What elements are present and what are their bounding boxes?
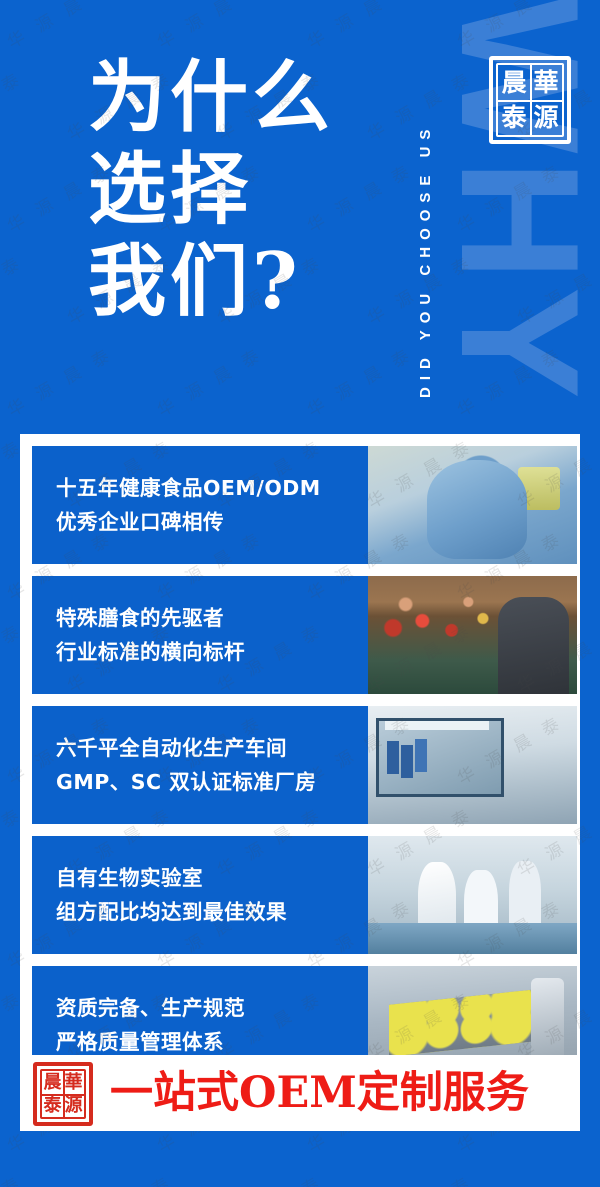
watermark-text: 华 源 晨 泰 <box>362 1168 478 1187</box>
watermark-text: 华 源 晨 泰 <box>152 340 268 421</box>
feature-text-block: 六千平全自动化生产车间 GMP、SC 双认证标准厂房 <box>32 706 368 824</box>
seal-char-1: 晨 <box>42 1071 63 1094</box>
watermark-text: 华 源 晨 泰 <box>2 340 118 421</box>
watermark-text: 华 源 晨 泰 <box>212 1168 328 1187</box>
seal-char-4: 源 <box>63 1094 84 1117</box>
production-line-staff-photo <box>368 836 577 954</box>
feature-list: 十五年健康食品OEM/ODM 优秀企业口碑相传 特殊膳食的先驱者 行业标准的横向… <box>32 446 577 1096</box>
watermark-text: 华 源 晨 泰 <box>302 0 418 53</box>
lab-technician-photo <box>368 446 577 564</box>
watermark-text: 华 源 晨 泰 <box>0 248 27 329</box>
page-title: 为什么 选择 我们? <box>88 52 334 328</box>
feature-line: 自有生物实验室 <box>56 861 368 895</box>
seal-char-2: 華 <box>63 1071 84 1094</box>
feature-line: 十五年健康食品OEM/ODM <box>56 471 368 505</box>
seal-horizontal-divider <box>496 100 564 102</box>
feature-text-block: 十五年健康食品OEM/ODM 优秀企业口碑相传 <box>32 446 368 564</box>
seal-char-1: 晨 <box>498 65 530 100</box>
feature-row: 自有生物实验室 组方配比均达到最佳效果 <box>32 836 577 954</box>
watermark-text: 华 源 晨 泰 <box>302 340 418 421</box>
watermark-text: 华 源 晨 泰 <box>512 1168 600 1187</box>
feature-row: 六千平全自动化生产车间 GMP、SC 双认证标准厂房 <box>32 706 577 824</box>
feature-line: 行业标准的横向标杆 <box>56 635 368 669</box>
seal-char-4: 源 <box>530 100 562 135</box>
seal-char-3: 泰 <box>498 100 530 135</box>
feature-line: 组方配比均达到最佳效果 <box>56 895 368 929</box>
watermark-text: 华 源 晨 泰 <box>0 1168 27 1187</box>
feature-row: 特殊膳食的先驱者 行业标准的横向标杆 <box>32 576 577 694</box>
feature-line: 特殊膳食的先驱者 <box>56 601 368 635</box>
vertical-caption: DID YOU CHOOSE US <box>408 28 434 398</box>
clean-room-workshop-photo <box>368 706 577 824</box>
feature-line: GMP、SC 双认证标准厂房 <box>56 765 368 799</box>
footer-banner: 一站式OEM定制服务 <box>20 1055 580 1131</box>
watermark-text: 华 源 晨 泰 <box>62 1168 178 1187</box>
watermark-text: 华 源 晨 泰 <box>152 0 268 53</box>
footer-slogan: 一站式OEM定制服务 <box>110 1069 529 1117</box>
feature-line: 优秀企业口碑相传 <box>56 505 368 539</box>
feature-line: 资质完备、生产规范 <box>56 991 368 1025</box>
title-line-2: 选择 <box>88 144 334 236</box>
seal-char-3: 泰 <box>42 1094 63 1117</box>
watermark-text: 华 源 晨 泰 <box>2 0 118 53</box>
watermark-text: 华 源 晨 泰 <box>0 64 27 145</box>
seal-char-2: 華 <box>530 65 562 100</box>
brand-seal-footer: 晨 華 泰 源 <box>33 1062 93 1126</box>
feature-text-block: 特殊膳食的先驱者 行业标准的横向标杆 <box>32 576 368 694</box>
title-line-3: 我们? <box>88 236 334 328</box>
conference-audience-photo <box>368 576 577 694</box>
feature-text-block: 自有生物实验室 组方配比均达到最佳效果 <box>32 836 368 954</box>
brand-seal-header: 晨 華 泰 源 <box>489 56 571 144</box>
feature-line: 六千平全自动化生产车间 <box>56 731 368 765</box>
title-line-1: 为什么 <box>88 52 334 144</box>
feature-line: 严格质量管理体系 <box>56 1025 368 1059</box>
poster-root: WHY 为什么 选择 我们? DID YOU CHOOSE US 晨 華 泰 源… <box>0 0 600 1187</box>
feature-row: 十五年健康食品OEM/ODM 优秀企业口碑相传 <box>32 446 577 564</box>
seal-horizontal-divider <box>40 1094 86 1096</box>
